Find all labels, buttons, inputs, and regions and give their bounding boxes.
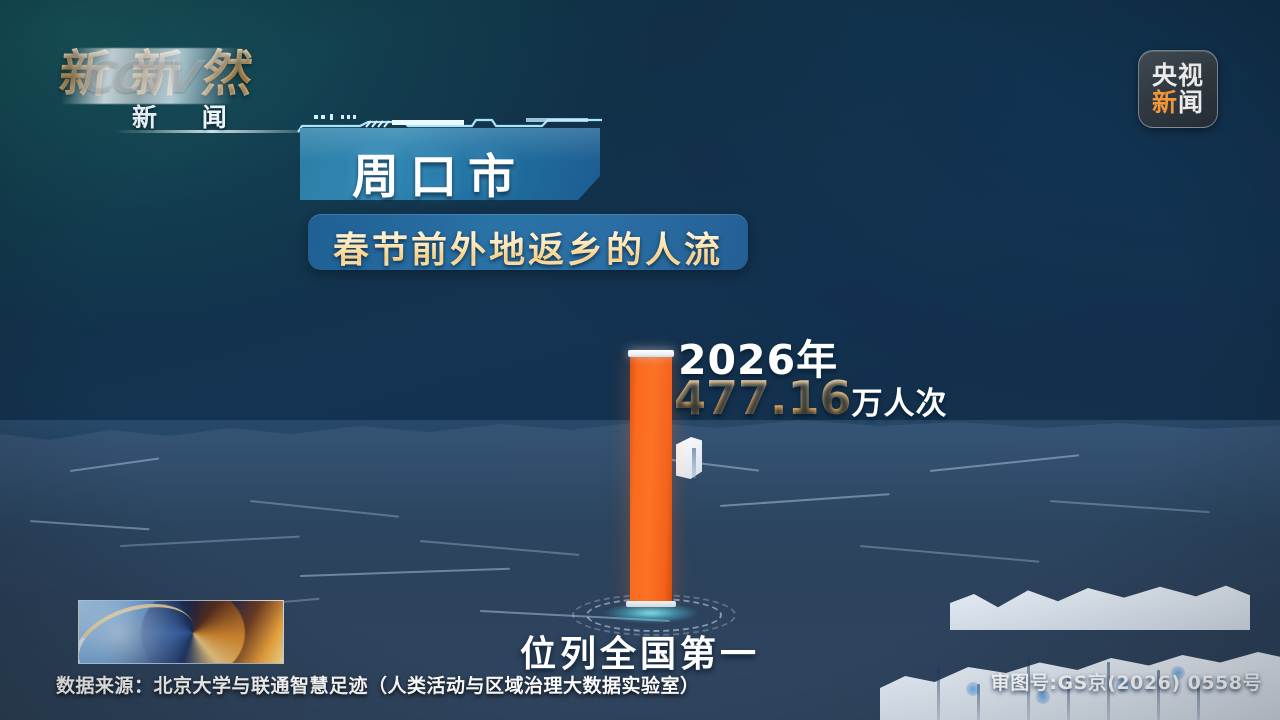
- bar-top-cap: [628, 350, 674, 357]
- map-block-marker-icon: [676, 437, 702, 479]
- bar-value-number: 477.16: [674, 371, 852, 425]
- thumbnail-arc: [78, 600, 205, 664]
- globe-swirl-thumbnail: [78, 600, 284, 664]
- thumbnail-swirl: [141, 600, 245, 664]
- map-block-marker-edge: [692, 448, 696, 478]
- bar-value-label: 477.16万人次: [674, 371, 948, 425]
- data-source-text: 数据来源：北京大学与联通智慧足迹（人类活动与区域治理大数据实验室）: [56, 671, 700, 698]
- bar-2026: [630, 355, 672, 605]
- broadcast-graphic: 新 新 然 CCTV 新 闻 央 视 新 闻 周口市: [0, 0, 1280, 720]
- map-approval-number: 审图号:GS京(2026) 0558号: [991, 668, 1262, 695]
- bar-base-cap: [626, 601, 676, 607]
- bar-value-unit: 万人次: [852, 386, 948, 422]
